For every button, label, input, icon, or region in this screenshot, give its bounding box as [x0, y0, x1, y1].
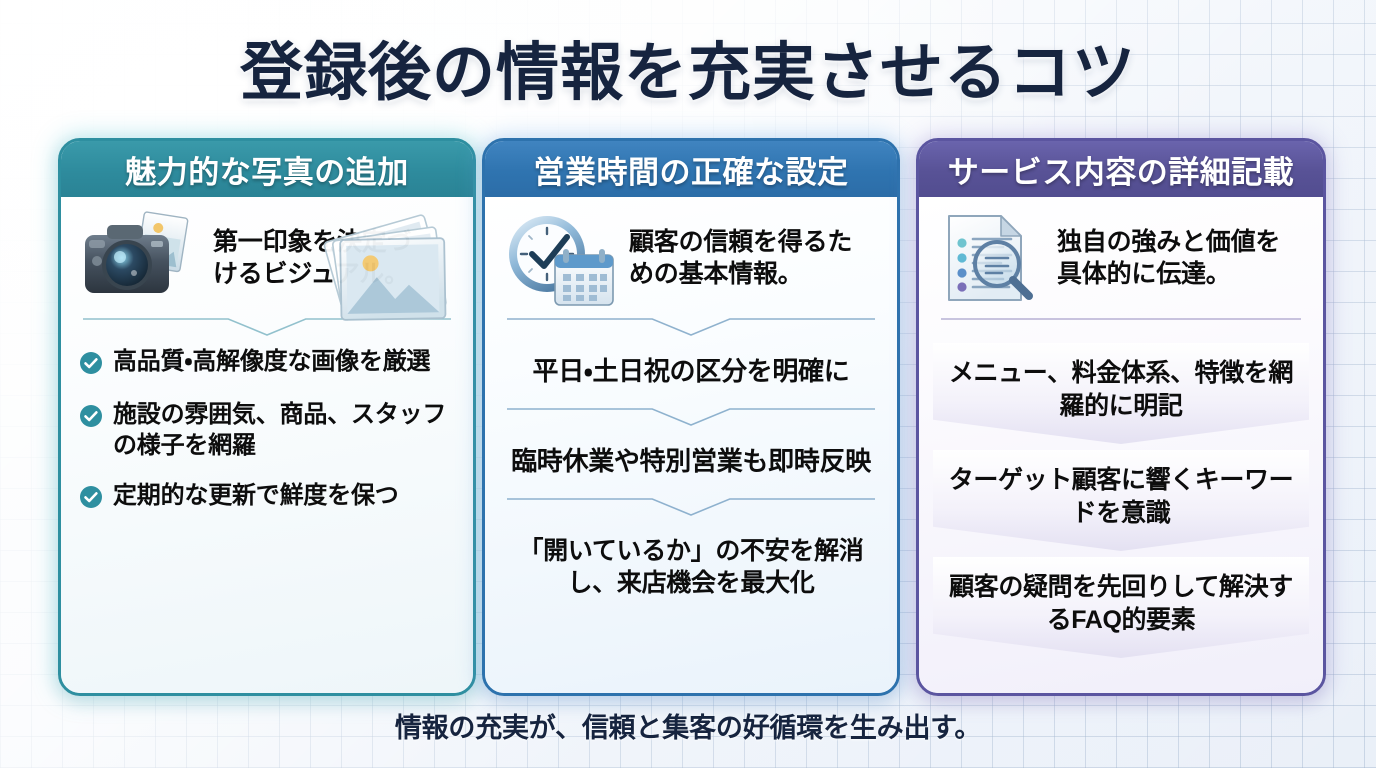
card-services-chevrons: メニュー、料金体系、特徴を網羅的に明記 ターゲット顧客に響くキーワードを意識 顧… — [919, 339, 1323, 658]
check-circle-icon — [79, 351, 103, 380]
card-hours-header: 営業時間の正確な設定 — [485, 141, 897, 197]
card-services-lede: 独自の強みと価値を具体的に伝達。 — [1057, 226, 1302, 291]
check-circle-icon — [79, 485, 103, 514]
document-magnifier-icon — [935, 210, 1047, 306]
card-photos-header: 魅力的な写真の追加 — [61, 141, 473, 197]
card-hours-lede: 顧客の信頼を得るための基本情報。 — [629, 226, 864, 291]
card-services-header: サービス内容の詳細記載 — [919, 141, 1323, 197]
list-item: 高品質・高解像度な画像を厳選 — [79, 347, 457, 380]
card-hours-blocks-2: 臨時休業や特別営業も即時反映 — [485, 429, 897, 493]
clock-calendar-icon — [501, 209, 619, 307]
card-photos: 魅力的な写真の追加 — [58, 138, 476, 696]
card-hours-blocks-3: 「開いているか」の不安を解消し、来店機会を最大化 — [485, 519, 897, 614]
page-title: 登録後の情報を充実させるコツ — [0, 22, 1376, 113]
card-photos-body: 第一印象を決定づけるビジュアル。 — [61, 197, 473, 693]
list-item: 「開いているか」の不安を解消し、来店機会を最大化 — [485, 521, 897, 614]
card-hours-body: 顧客の信頼を得るための基本情報。 平日・土日祝の区分を明確に 臨時休業や特別営業… — [485, 197, 897, 693]
list-item: 定期的な更新で鮮度を保つ — [79, 481, 457, 514]
divider-notch-2b — [507, 403, 875, 429]
card-services-lede-row: 独自の強みと価値を具体的に伝達。 — [919, 197, 1323, 313]
card-services-body: 独自の強みと価値を具体的に伝達。 メニュー、料金体系、特徴を網羅的に明記 ターゲ… — [919, 197, 1323, 693]
list-item: 施設の雰囲気、商品、スタッフの様子を網羅 — [79, 400, 457, 461]
camera-photo-icon — [77, 209, 203, 307]
list-item: 平日・土日祝の区分を明確に — [485, 341, 897, 403]
check-circle-icon — [79, 404, 103, 433]
divider-notch-3 — [941, 313, 1301, 339]
list-item: メニュー、料金体系、特徴を網羅的に明記 — [933, 343, 1309, 444]
divider-notch-2a — [507, 313, 875, 339]
card-hours-blocks: 平日・土日祝の区分を明確に — [485, 339, 897, 403]
divider-notch-2c — [507, 493, 875, 519]
list-item-label: 施設の雰囲気、商品、スタッフの様子を網羅 — [113, 400, 457, 461]
card-hours: 営業時間の正確な設定 — [482, 138, 900, 696]
list-item: 顧客の疑問を先回りして解決するFAQ的要素 — [933, 557, 1309, 658]
card-hours-lede-row: 顧客の信頼を得るための基本情報。 — [485, 197, 897, 313]
list-item: ターゲット顧客に響くキーワードを意識 — [933, 450, 1309, 551]
list-item: 臨時休業や特別営業も即時反映 — [485, 431, 897, 493]
list-item-label: 高品質・高解像度な画像を厳選 — [113, 347, 430, 378]
footer-caption: 情報の充実が、信頼と集客の好循環を生み出す。 — [0, 706, 1376, 745]
cards-container: 魅力的な写真の追加 — [0, 138, 1376, 690]
card-photos-checklist: 高品質・高解像度な画像を厳選 施設の雰囲気、商品、スタッフの様子を網羅 定期的な… — [61, 339, 473, 514]
card-services: サービス内容の詳細記載 — [916, 138, 1326, 696]
list-item-label: 定期的な更新で鮮度を保つ — [113, 481, 399, 512]
